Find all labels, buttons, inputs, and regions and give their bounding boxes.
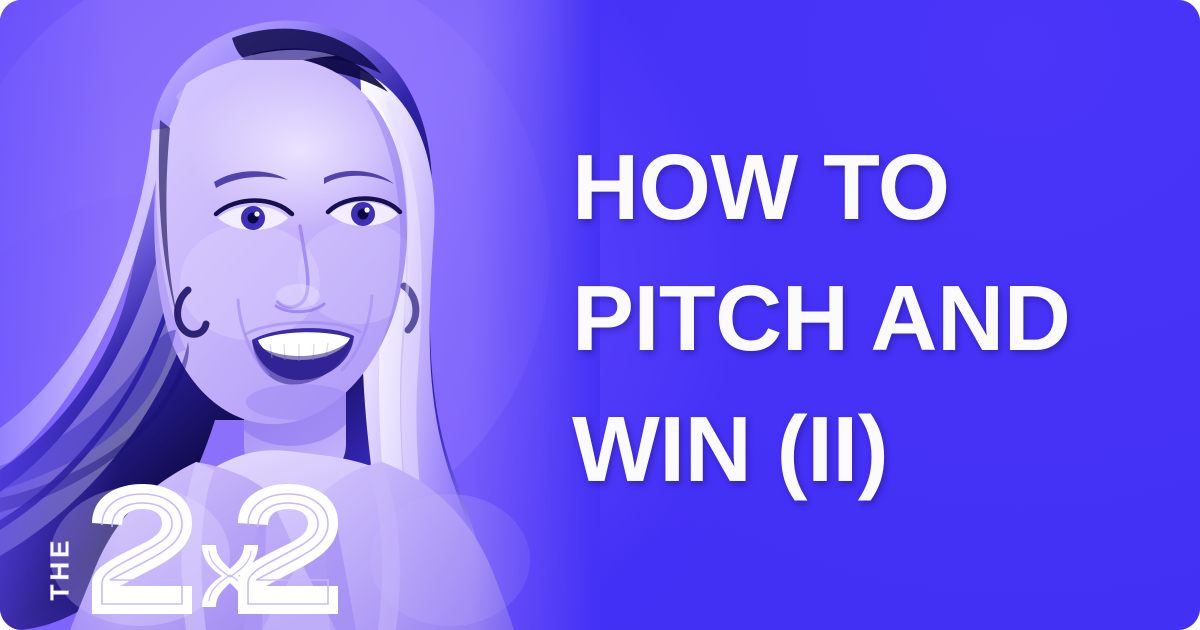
title-line-3: WIN (II) (572, 384, 1172, 515)
title-line-1: HOW TO (572, 122, 1172, 253)
page-title: HOW TO PITCH AND WIN (II) (572, 122, 1172, 515)
brand-logo: THE (42, 487, 342, 617)
episode-cover-card: HOW TO PITCH AND WIN (II) THE (0, 0, 1200, 630)
title-line-2: PITCH AND (572, 253, 1172, 384)
logo-2x2-mark (90, 483, 342, 617)
logo-the-label: THE (45, 530, 76, 608)
logo-digit-two-left (92, 484, 192, 614)
